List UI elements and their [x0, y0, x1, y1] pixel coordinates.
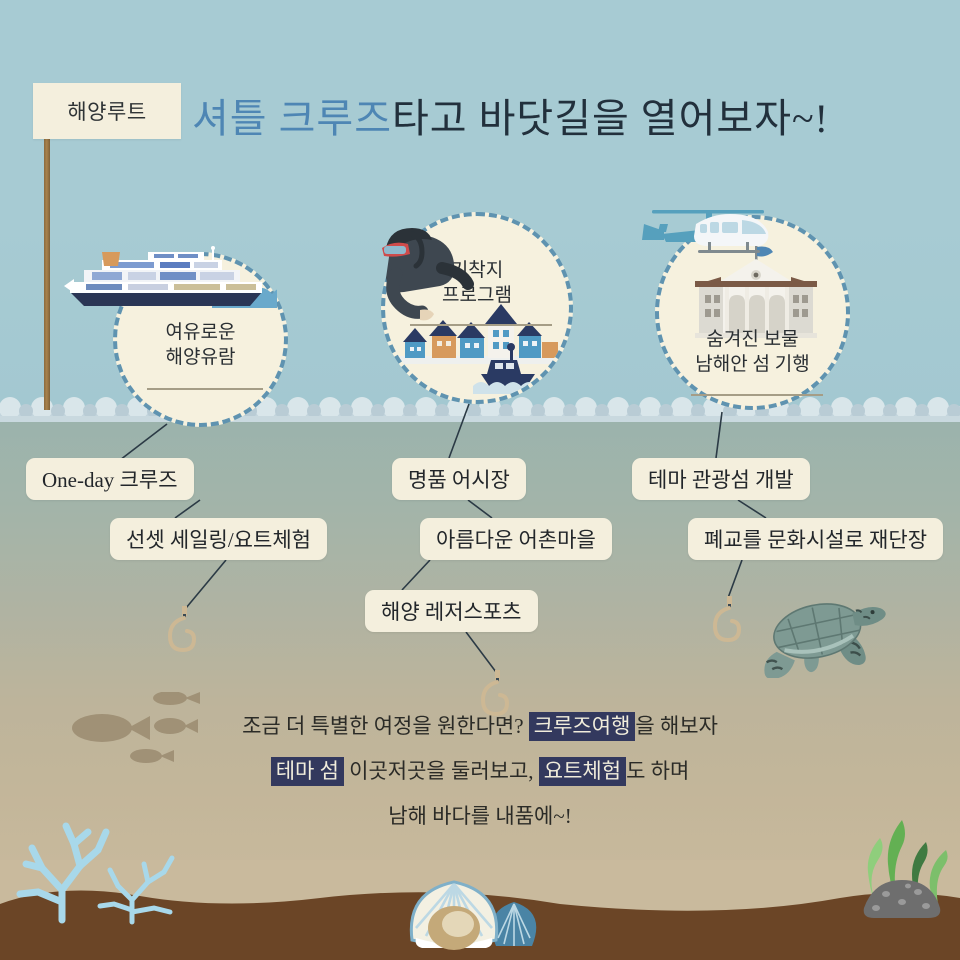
- bubble-cruise-rule: [147, 388, 263, 390]
- tag-one-day-cruise[interactable]: One-day 크루즈: [26, 458, 194, 500]
- fishing-hook-icon: [710, 590, 750, 642]
- copy-line1-highlight: 크루즈여행: [529, 712, 636, 741]
- copy-line1-pre: 조금 더 특별한 여정을 원한다면?: [242, 714, 529, 738]
- flag-pole: [44, 118, 50, 410]
- cruise-ship-illustration: [62, 246, 277, 318]
- tag-marine-leisure[interactable]: 해양 레저스포츠: [365, 590, 538, 632]
- bubble-island-line1: 숨겨진 보물: [659, 327, 846, 352]
- bubble-island-label: 숨겨진 보물 남해안 섬 기행: [659, 327, 846, 378]
- banner-label: 해양루트: [33, 83, 181, 139]
- bubble-island-rule: [691, 394, 823, 396]
- copy-line2-highlight-2: 요트체험: [539, 757, 626, 786]
- tag-fish-market[interactable]: 명품 어시장: [392, 458, 526, 500]
- page-title-accent: 셔틀 크루즈: [192, 86, 392, 144]
- diver-illustration: [372, 224, 490, 336]
- copy-line2-mid: 이곳저곳을 둘러보고,: [344, 759, 539, 783]
- banner-text: 해양루트: [67, 96, 146, 126]
- copy-line1-post: 을 해보자: [635, 714, 718, 738]
- page-title: 셔틀 크루즈 타고 바닷길을 열어보자~!: [192, 86, 952, 144]
- copy-line-3: 남해 바다를 내품에~!: [0, 806, 960, 827]
- tag-school-culture[interactable]: 폐교를 문화시설로 재단장: [688, 518, 943, 560]
- bubble-cruise-label: 여유로운 해양유람: [117, 320, 284, 371]
- bubble-island-line2: 남해안 섬 기행: [659, 352, 846, 377]
- copy-line-1: 조금 더 특별한 여정을 원한다면? 크루즈여행을 해보자: [0, 716, 960, 737]
- bottom-copy: 조금 더 특별한 여정을 원한다면? 크루즈여행을 해보자 테마 섬 이곳저곳을…: [0, 716, 960, 851]
- page-title-rest: 타고 바닷길을 열어보자~!: [392, 86, 829, 144]
- sea-turtle-illustration: [752, 588, 912, 678]
- tag-theme-island[interactable]: 테마 관광섬 개발: [632, 458, 810, 500]
- scallop-shell-with-pearl: [400, 862, 570, 952]
- tag-sunset-sailing[interactable]: 선셋 세일링/요트체험: [110, 518, 327, 560]
- copy-line-2: 테마 섬 이곳저곳을 둘러보고, 요트체험도 하며: [0, 761, 960, 782]
- fishing-hook-icon: [478, 664, 518, 716]
- infographic-canvas: 해양루트 셔틀 크루즈 타고 바닷길을 열어보자~! 여유로운 해양유람: [0, 0, 960, 960]
- tag-fishing-village[interactable]: 아름다운 어촌마을: [420, 518, 612, 560]
- helicopter-illustration: [634, 198, 784, 270]
- bubble-cruise-line2: 해양유람: [117, 345, 284, 370]
- copy-line2-highlight-1: 테마 섬: [271, 757, 344, 786]
- fishing-hook-icon: [165, 600, 205, 652]
- bubble-cruise-line1: 여유로운: [117, 320, 284, 345]
- copy-line2-post: 도 하며: [626, 759, 689, 783]
